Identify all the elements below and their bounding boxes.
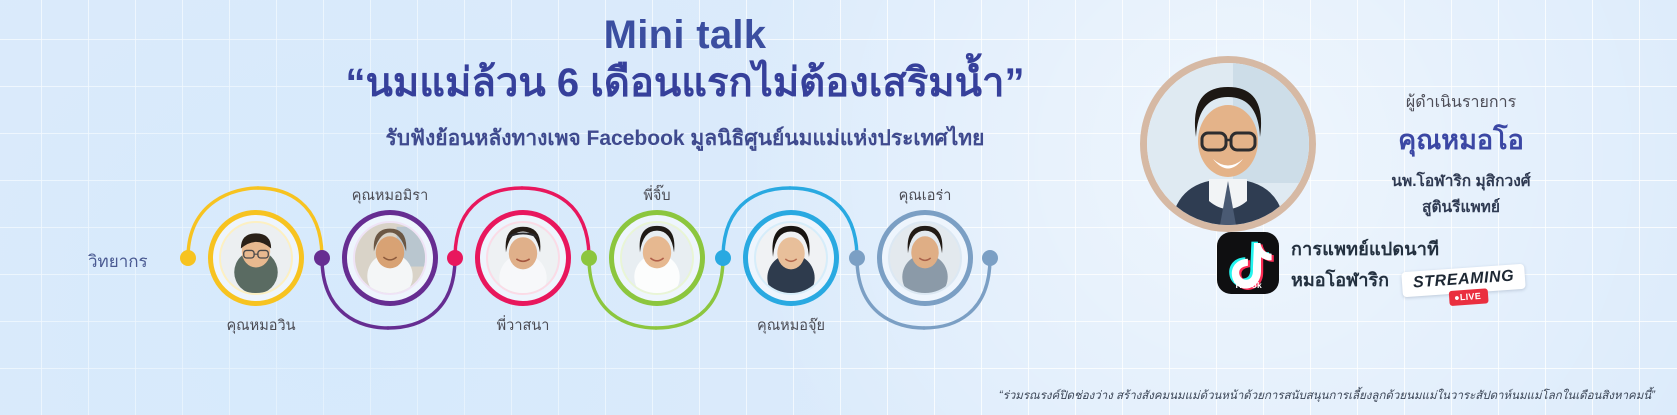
- speaker-ring: [475, 210, 571, 306]
- speaker-name: คุณเอร่า: [850, 184, 1000, 207]
- subtitle: รับฟังย้อนหลังทางเพจ Facebook มูลนิธิศูน…: [290, 122, 1080, 155]
- host-nickname: คุณหมอโอ: [1336, 118, 1586, 161]
- title-block: Mini talk “นมแม่ล้วน 6 เดือนแรกไม่ต้องเส…: [290, 14, 1080, 155]
- speaker-name: พี่จิ๊บ: [582, 184, 732, 207]
- speaker-ring: [609, 210, 705, 306]
- host-role: ผู้ดำเนินรายการ: [1336, 90, 1586, 115]
- live-badge: ●LIVE: [1449, 288, 1489, 305]
- tiktok-wordmark: TikTok: [1217, 280, 1279, 290]
- channel-line-1: การแพทย์แปดนาที: [1291, 234, 1439, 263]
- connector-dot: [447, 250, 463, 266]
- speaker-ring: [208, 210, 304, 306]
- speaker-avatar: [622, 223, 692, 293]
- speaker-row: คุณหมอวิน คุณหมอมิรา: [0, 182, 1010, 342]
- speaker-avatar: [221, 223, 291, 293]
- speaker-name: คุณหมอมิรา: [315, 184, 465, 207]
- speaker-ring: [743, 210, 839, 306]
- connector-dot: [180, 250, 196, 266]
- host-avatar-ring[interactable]: [1140, 56, 1316, 232]
- headline-quote: “นมแม่ล้วน 6 เดือนแรกไม่ต้องเสริมน้ำ”: [290, 58, 1080, 109]
- speaker-avatar: [488, 223, 558, 293]
- speakers-section-label: วิทยากร: [88, 248, 148, 275]
- speaker-avatar: [756, 223, 826, 293]
- speaker-ring: [877, 210, 973, 306]
- connector-dot: [715, 250, 731, 266]
- connector-dot: [849, 250, 865, 266]
- page-title: Mini talk: [290, 14, 1080, 56]
- tiktok-icon[interactable]: TikTok: [1217, 232, 1279, 294]
- host-info: ผู้ดำเนินรายการ คุณหมอโอ นพ.โอฬาริก มุสิ…: [1336, 90, 1586, 219]
- streaming-label: STREAMING: [1412, 267, 1514, 291]
- host-avatar: [1147, 63, 1309, 225]
- connector-dot: [982, 250, 998, 266]
- footer-caption: “ร่วมรณรงค์ปิดช่องว่าง สร้างสังคมนมแม่ด้…: [0, 387, 1655, 405]
- connector-dot: [581, 250, 597, 266]
- host-fullname: นพ.โอฬาริก มุสิกวงศ์: [1336, 168, 1586, 193]
- host-specialty: สูตินรีแพทย์: [1336, 194, 1586, 219]
- speaker-avatar: [355, 223, 425, 293]
- speaker-avatar: [890, 223, 960, 293]
- connector-dot: [314, 250, 330, 266]
- speaker-name: พี่วาสนา: [448, 314, 598, 337]
- speaker-ring: [342, 210, 438, 306]
- speaker-name: คุณหมอวิน: [186, 314, 336, 337]
- speaker-name: คุณหมอจุ๊ย: [716, 314, 866, 337]
